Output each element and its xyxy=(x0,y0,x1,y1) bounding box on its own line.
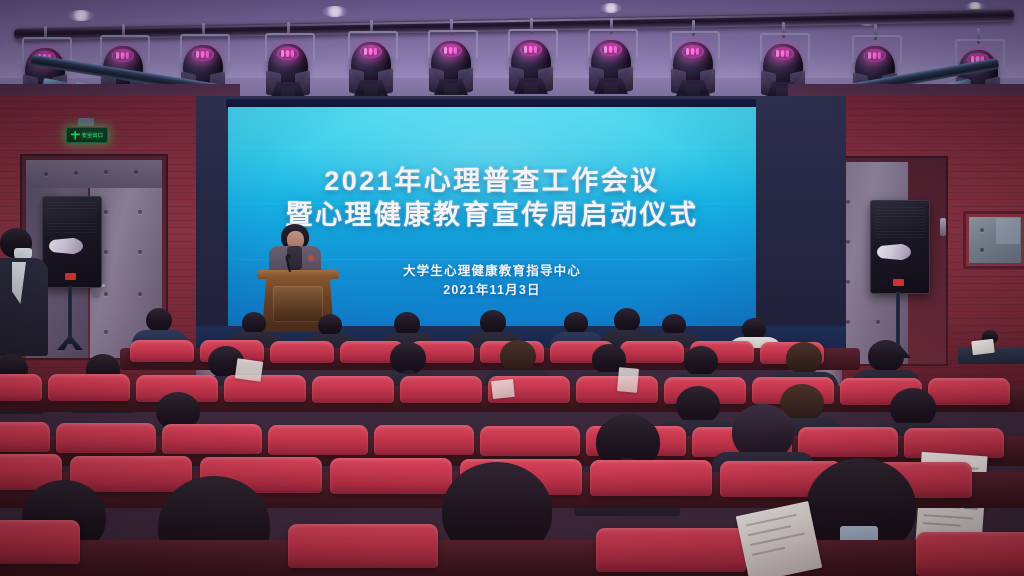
door-tuft xyxy=(104,292,108,296)
door-lock-plate-right[interactable] xyxy=(940,218,946,236)
exit-sign: 安全出口 xyxy=(66,127,108,143)
fixture-lens xyxy=(360,45,382,58)
speaker-brand-badge xyxy=(65,273,76,280)
seat-row-front xyxy=(0,520,1024,576)
exit-sign-label: 安全出口 xyxy=(82,132,104,139)
door-tuft xyxy=(846,200,850,204)
loudspeaker-right xyxy=(870,200,930,294)
ceiling-downlight xyxy=(600,3,622,13)
seat xyxy=(596,528,746,572)
handout-document xyxy=(235,358,264,381)
speaker-horn xyxy=(49,237,83,255)
door-tuft xyxy=(138,210,142,214)
document-text-line xyxy=(746,514,797,526)
door-tuft xyxy=(104,250,108,254)
door-tuft xyxy=(138,292,142,296)
fixture-lens xyxy=(600,43,622,56)
speaker-grille xyxy=(47,201,97,233)
running-man-icon xyxy=(71,131,80,140)
seat xyxy=(288,524,438,568)
door-tuft xyxy=(846,280,850,284)
speaker-horn xyxy=(877,243,911,261)
fixture-lens xyxy=(440,44,462,57)
document-text-line xyxy=(752,547,786,556)
door-tuft xyxy=(138,250,142,254)
podium-microphone-head xyxy=(286,254,291,259)
handout-document xyxy=(491,379,515,399)
speaker-brand-badge xyxy=(893,279,904,286)
presenter-lapel-pin xyxy=(309,256,313,260)
window-inner-tuft xyxy=(980,228,984,232)
projection-booth-window xyxy=(966,214,1024,266)
document-text-line xyxy=(748,525,791,536)
seat xyxy=(916,532,1024,576)
handout-document xyxy=(617,367,639,393)
exit-sign-bracket xyxy=(78,118,94,126)
door-tuft xyxy=(44,172,48,176)
speaker-grille xyxy=(875,205,925,238)
window-inner-tuft xyxy=(980,248,984,252)
seat xyxy=(0,520,80,564)
window-pane xyxy=(996,218,1020,244)
conference-hall-photo: 安全出口 2021年心 xyxy=(0,0,1024,576)
fixture-lens xyxy=(277,47,299,60)
fixture-lens xyxy=(520,43,542,56)
document-text-line xyxy=(750,532,805,545)
door-tuft xyxy=(134,170,138,174)
door-tuft xyxy=(74,171,78,175)
door-tuft xyxy=(846,240,850,244)
loudspeaker-left xyxy=(42,196,102,288)
door-tuft xyxy=(104,170,108,174)
seat-back-panel xyxy=(0,540,1024,576)
door-tuft xyxy=(104,210,108,214)
ceiling-downlight xyxy=(68,10,94,21)
fixture-lens xyxy=(682,45,704,58)
ceiling-downlight xyxy=(322,6,348,17)
